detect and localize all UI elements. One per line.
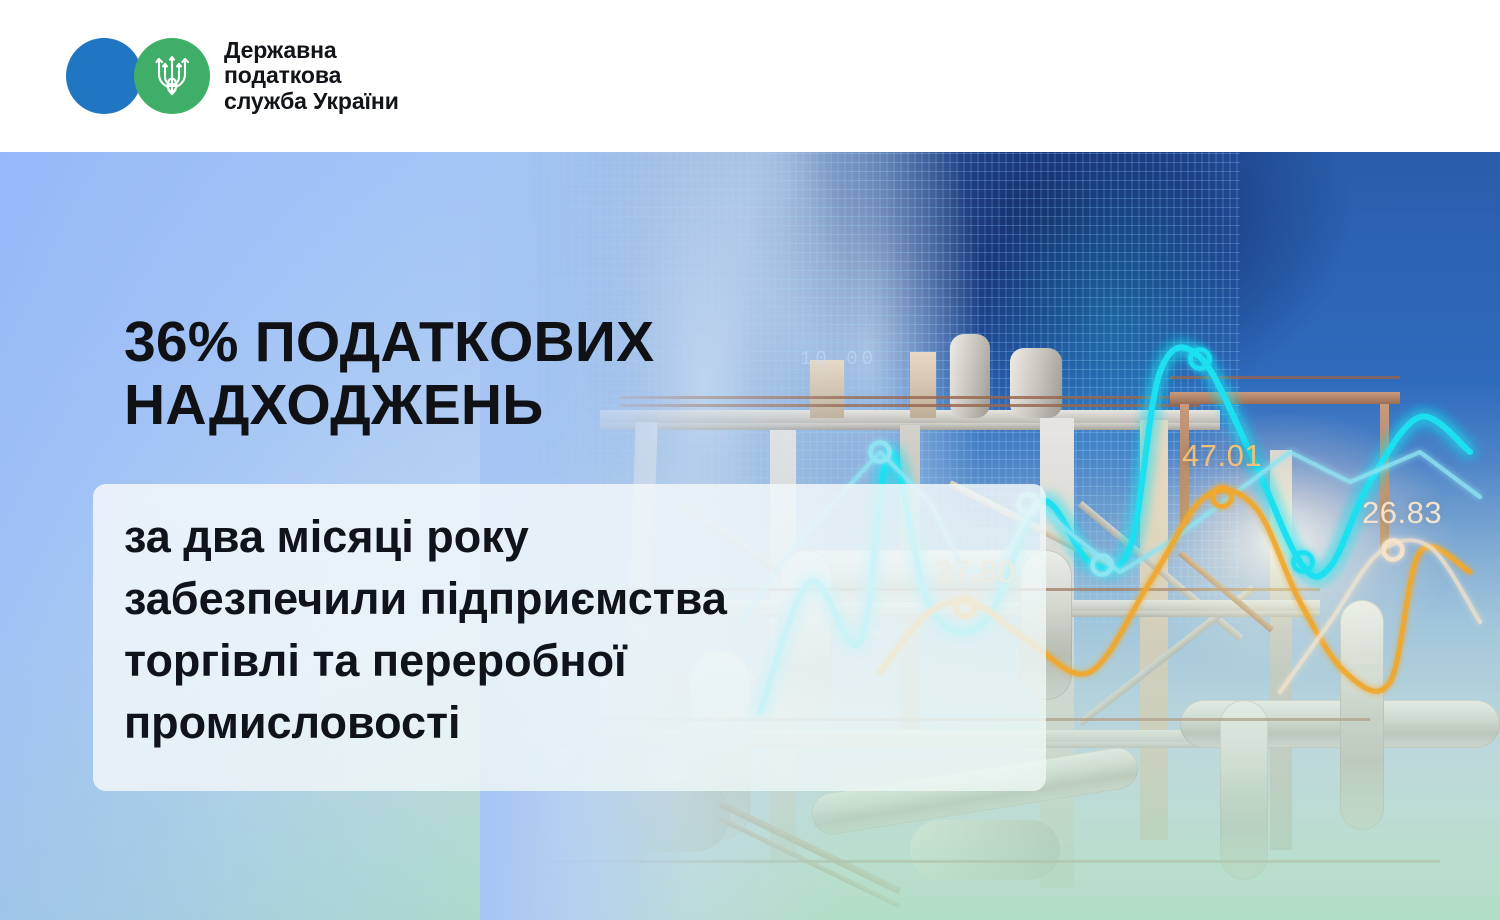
subtitle-text: за два місяці року забезпечили підприємс… (124, 506, 1024, 754)
page-title: 36% ПОДАТКОВИХ НАДХОДЖЕНЬ (124, 311, 654, 437)
organization-logo[interactable]: Державна податкова служба України (66, 38, 399, 115)
logo-blue-circle-icon (66, 38, 142, 114)
header-band: Державна податкова служба України (0, 0, 1500, 152)
organization-name: Державна податкова служба України (224, 38, 399, 115)
poster-canvas: 10 00 37.80 47.01 26.83 36% ПОДАТКОВИХ Н… (0, 0, 1500, 920)
logo-marks (66, 38, 210, 114)
ukrainian-trident-icon (154, 52, 190, 100)
